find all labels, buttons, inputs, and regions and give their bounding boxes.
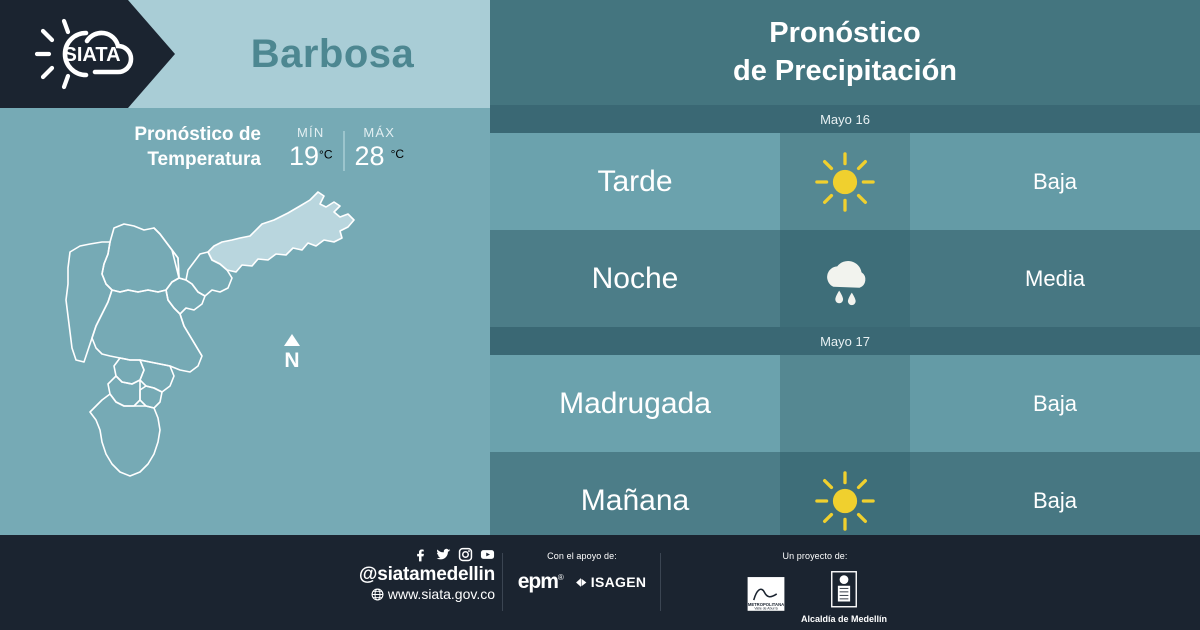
isagen-logo: ISAGEN <box>575 574 646 590</box>
temperature-title-line2: Temperatura <box>147 149 261 170</box>
aburra-valley-map-svg <box>62 180 392 510</box>
support-caption: Con el apoyo de: <box>512 551 652 561</box>
footer: @siatamedellin www.siata.gov.co Con el a… <box>0 535 1200 630</box>
map-region-west <box>66 242 112 362</box>
twitter-icon[interactable] <box>436 547 451 562</box>
map-region-medellin <box>92 290 202 372</box>
probability-label: Media <box>910 230 1200 327</box>
compass-label: N <box>277 350 307 371</box>
temperature-title: Pronóstico de Temperatura <box>86 123 261 172</box>
siata-logo-block[interactable]: SIATA <box>0 0 175 108</box>
website-url: www.siata.gov.co <box>388 586 495 603</box>
footer-divider-2 <box>660 553 661 611</box>
precipitation-panel: Pronóstico de Precipitación Mayo 16 Tard… <box>490 0 1200 535</box>
social-contact-block: @siatamedellin www.siata.gov.co <box>330 547 495 603</box>
max-label: MÁX <box>355 125 405 140</box>
precipitation-title-line1: Pronóstico <box>769 15 920 53</box>
weather-forecast-infographic: SIATA Barbosa Pronóstico de Temperatura … <box>0 0 1200 630</box>
temperature-header: Pronóstico de Temperatura MÍN 19°C MÁX 2… <box>0 108 490 188</box>
temperature-values: MÍN 19°C MÁX 28°C <box>279 125 414 172</box>
map-region-bello <box>102 224 179 292</box>
alcaldia-crest-icon <box>826 570 862 612</box>
min-value: 19 <box>289 141 319 171</box>
siata-logo: SIATA <box>32 15 144 93</box>
precipitation-title-line2: de Precipitación <box>733 53 957 91</box>
project-block: Un proyecto de: METROPOLITANA Valle de A… <box>700 551 930 624</box>
min-temperature: MÍN 19°C <box>279 125 343 172</box>
moon-icon <box>780 355 910 452</box>
date-label-may-17: Mayo 17 <box>490 327 1200 355</box>
max-unit: °C <box>391 147 404 161</box>
epm-logo: epm® <box>518 570 563 594</box>
forecast-row-madrugada[interactable]: Madrugada Baja <box>490 355 1200 452</box>
compass-rose: N <box>277 333 307 371</box>
valley-map[interactable]: N <box>0 180 490 535</box>
isagen-mark-icon <box>575 576 588 589</box>
period-label: Madrugada <box>490 355 780 452</box>
map-region-north-strip <box>154 228 186 280</box>
support-block: Con el apoyo de: epm® ISAGEN <box>512 551 652 594</box>
facebook-icon[interactable] <box>414 547 429 562</box>
area-metropolitana-logo: METROPOLITANA Valle de Aburrá <box>743 574 789 620</box>
sun-icon <box>780 133 910 230</box>
moon-rain-cloud-icon <box>780 230 910 327</box>
probability-label: Baja <box>910 355 1200 452</box>
footer-divider-1 <box>502 553 503 611</box>
max-temperature: MÁX 28°C <box>345 125 415 172</box>
period-label: Noche <box>490 230 780 327</box>
alcaldia-label: Alcaldía de Medellín <box>801 614 887 624</box>
forecast-row-noche[interactable]: Noche Media <box>490 230 1200 327</box>
svg-text:Valle de Aburrá: Valle de Aburrá <box>754 607 777 611</box>
instagram-icon[interactable] <box>458 547 473 562</box>
precipitation-title: Pronóstico de Precipitación <box>490 0 1200 105</box>
map-region-barbosa <box>208 192 354 272</box>
alcaldia-de-medellin-logo: Alcaldía de Medellín <box>801 570 887 624</box>
map-region-sabaneta <box>140 386 162 408</box>
min-label: MÍN <box>289 125 333 140</box>
forecast-row-tarde[interactable]: Tarde Baja <box>490 133 1200 230</box>
project-logo-row: METROPOLITANA Valle de Aburrá <box>700 570 930 624</box>
social-handle[interactable]: @siatamedellin <box>330 564 495 586</box>
city-header-band: SIATA Barbosa <box>0 0 490 108</box>
map-region-divider-line <box>180 314 202 356</box>
website-row[interactable]: www.siata.gov.co <box>330 586 495 603</box>
probability-label: Baja <box>910 133 1200 230</box>
map-region-caldas <box>90 394 160 476</box>
north-arrow-icon <box>283 333 301 349</box>
min-unit: °C <box>319 147 332 161</box>
temperature-title-line1: Pronóstico de <box>134 124 261 145</box>
youtube-icon[interactable] <box>480 547 495 562</box>
city-name: Barbosa <box>175 0 490 108</box>
project-caption: Un proyecto de: <box>700 551 930 561</box>
area-metropolitana-icon: METROPOLITANA Valle de Aburrá <box>743 574 789 620</box>
max-value: 28 <box>355 141 385 171</box>
globe-icon <box>371 588 384 601</box>
period-label: Tarde <box>490 133 780 230</box>
map-region-la-estrella <box>108 376 140 406</box>
date-label-may-16: Mayo 16 <box>490 105 1200 133</box>
support-logo-row: epm® ISAGEN <box>512 570 652 594</box>
siata-logo-text: SIATA <box>63 44 120 66</box>
temperature-panel: SIATA Barbosa Pronóstico de Temperatura … <box>0 0 490 535</box>
social-icon-row <box>330 547 495 562</box>
